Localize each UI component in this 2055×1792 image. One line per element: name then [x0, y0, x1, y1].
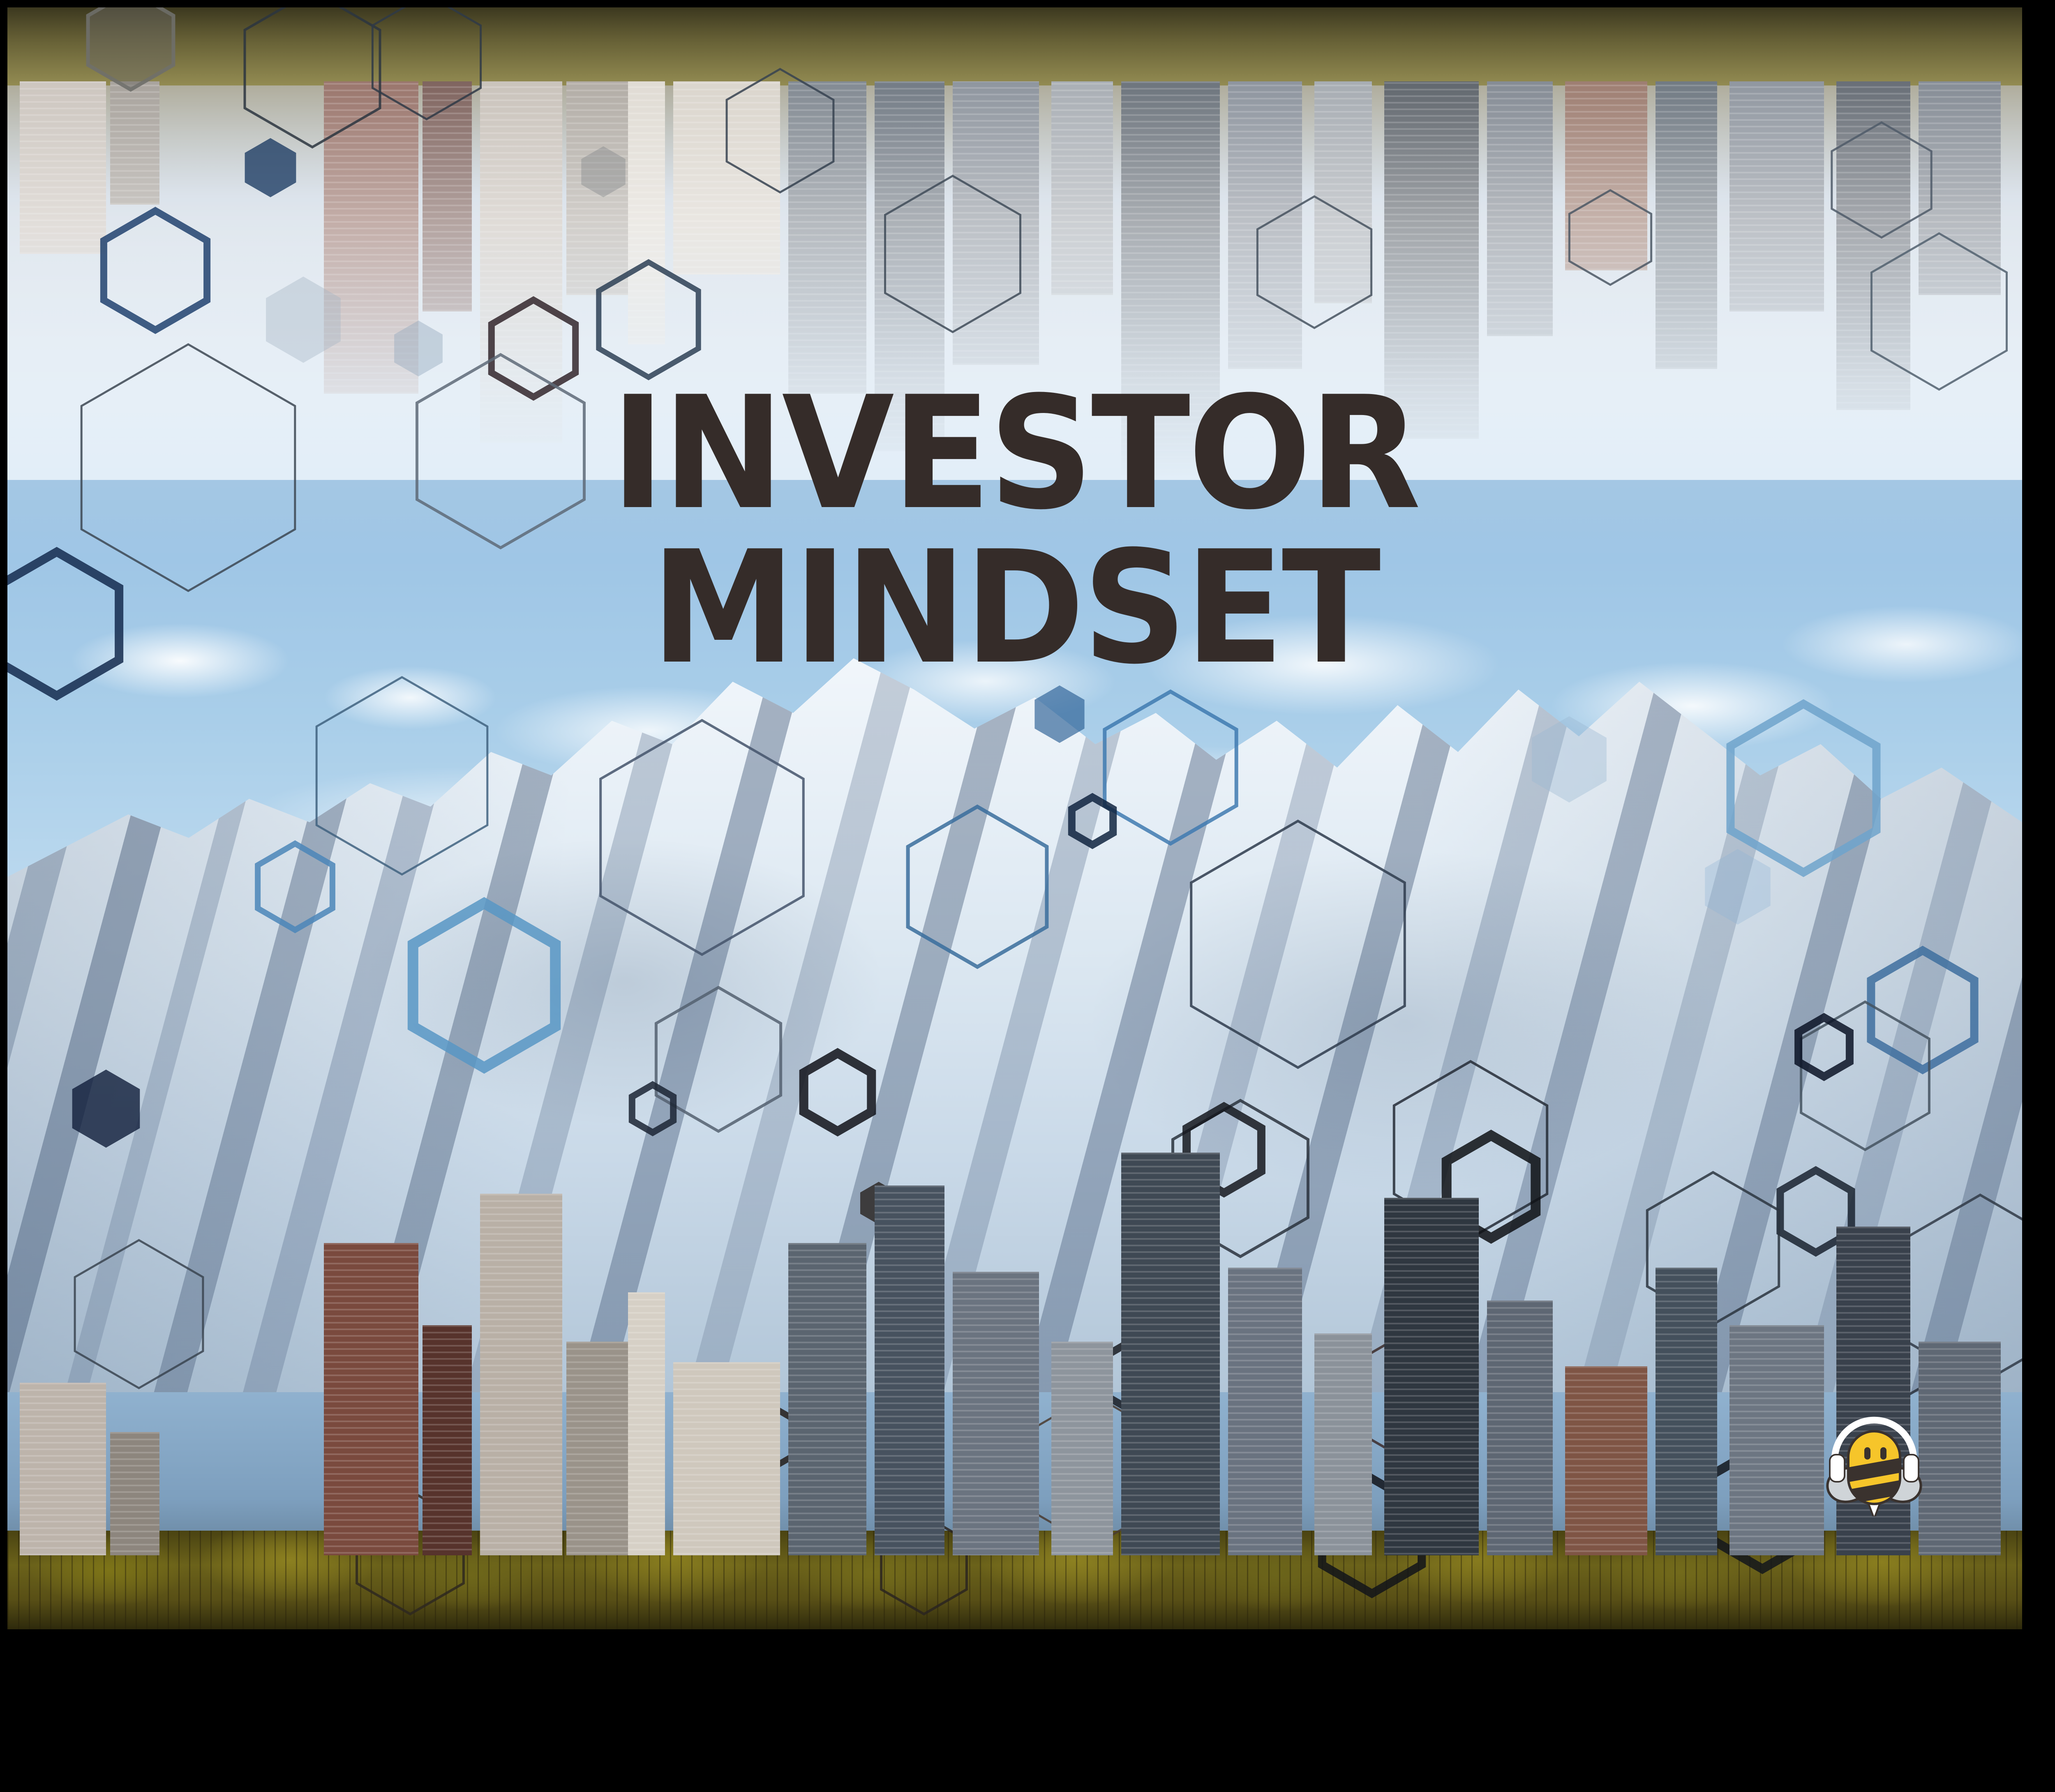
skyline-building: [566, 1342, 628, 1555]
page-title: INVESTOR MINDSET: [7, 376, 2022, 685]
skyline-building: [1487, 1301, 1553, 1555]
bee-with-headphones-logo: [1813, 1393, 1936, 1516]
bee-eye-right: [1880, 1447, 1886, 1460]
skyline-building: [953, 1272, 1039, 1555]
skyline-building: [1384, 1198, 1479, 1555]
title-line-1: INVESTOR: [73, 376, 1956, 531]
skyline-building: [1565, 1366, 1647, 1555]
bee-eye-left: [1864, 1447, 1870, 1460]
skyline-building: [1656, 1268, 1717, 1555]
skyline-building: [875, 1185, 944, 1555]
skyline-building: [423, 1325, 472, 1555]
skyline-building: [110, 1432, 159, 1555]
title-line-2: MINDSET: [73, 531, 1956, 685]
skyline-building: [1228, 1268, 1302, 1555]
headphone-earcup-left: [1830, 1455, 1845, 1482]
skyline-building: [20, 1383, 106, 1555]
skyline-building: [1314, 1333, 1372, 1555]
skyline-building: [1121, 1153, 1220, 1555]
skyline-building: [1729, 1325, 1824, 1555]
skyline-building: [1051, 1342, 1113, 1555]
skyline-building: [673, 1362, 780, 1555]
skyline-building: [324, 1243, 418, 1555]
skyline-building: [628, 1292, 665, 1555]
skyline-building: [788, 1243, 866, 1555]
letterbox-frame: INVESTOR MINDSET: [0, 0, 2055, 1792]
cover-artwork: INVESTOR MINDSET: [7, 7, 2022, 1629]
skyline-building: [480, 1194, 562, 1555]
headphone-earcup-right: [1904, 1455, 1919, 1482]
